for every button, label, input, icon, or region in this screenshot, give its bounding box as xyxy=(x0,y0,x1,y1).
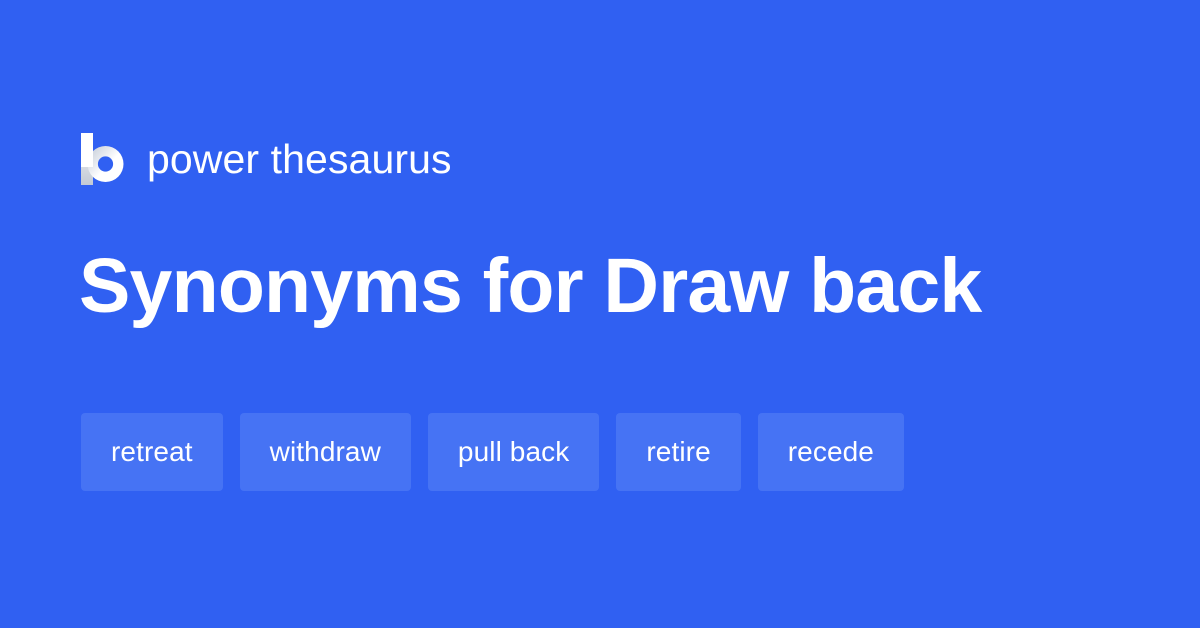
social-share-card: power thesaurus Synonyms for Draw back r… xyxy=(0,0,1200,628)
synonym-chip[interactable]: retire xyxy=(616,413,740,491)
synonym-chip[interactable]: pull back xyxy=(428,413,599,491)
synonym-chip[interactable]: retreat xyxy=(81,413,223,491)
brand-lockup[interactable]: power thesaurus xyxy=(80,128,452,190)
page-title: Synonyms for Draw back xyxy=(79,246,1139,328)
brand-name: power thesaurus xyxy=(147,139,452,180)
power-thesaurus-b-logo-icon xyxy=(80,133,124,185)
synonym-chip[interactable]: recede xyxy=(758,413,904,491)
synonym-chip-list: retreat withdraw pull back retire recede xyxy=(81,413,1121,491)
synonym-chip[interactable]: withdraw xyxy=(240,413,411,491)
